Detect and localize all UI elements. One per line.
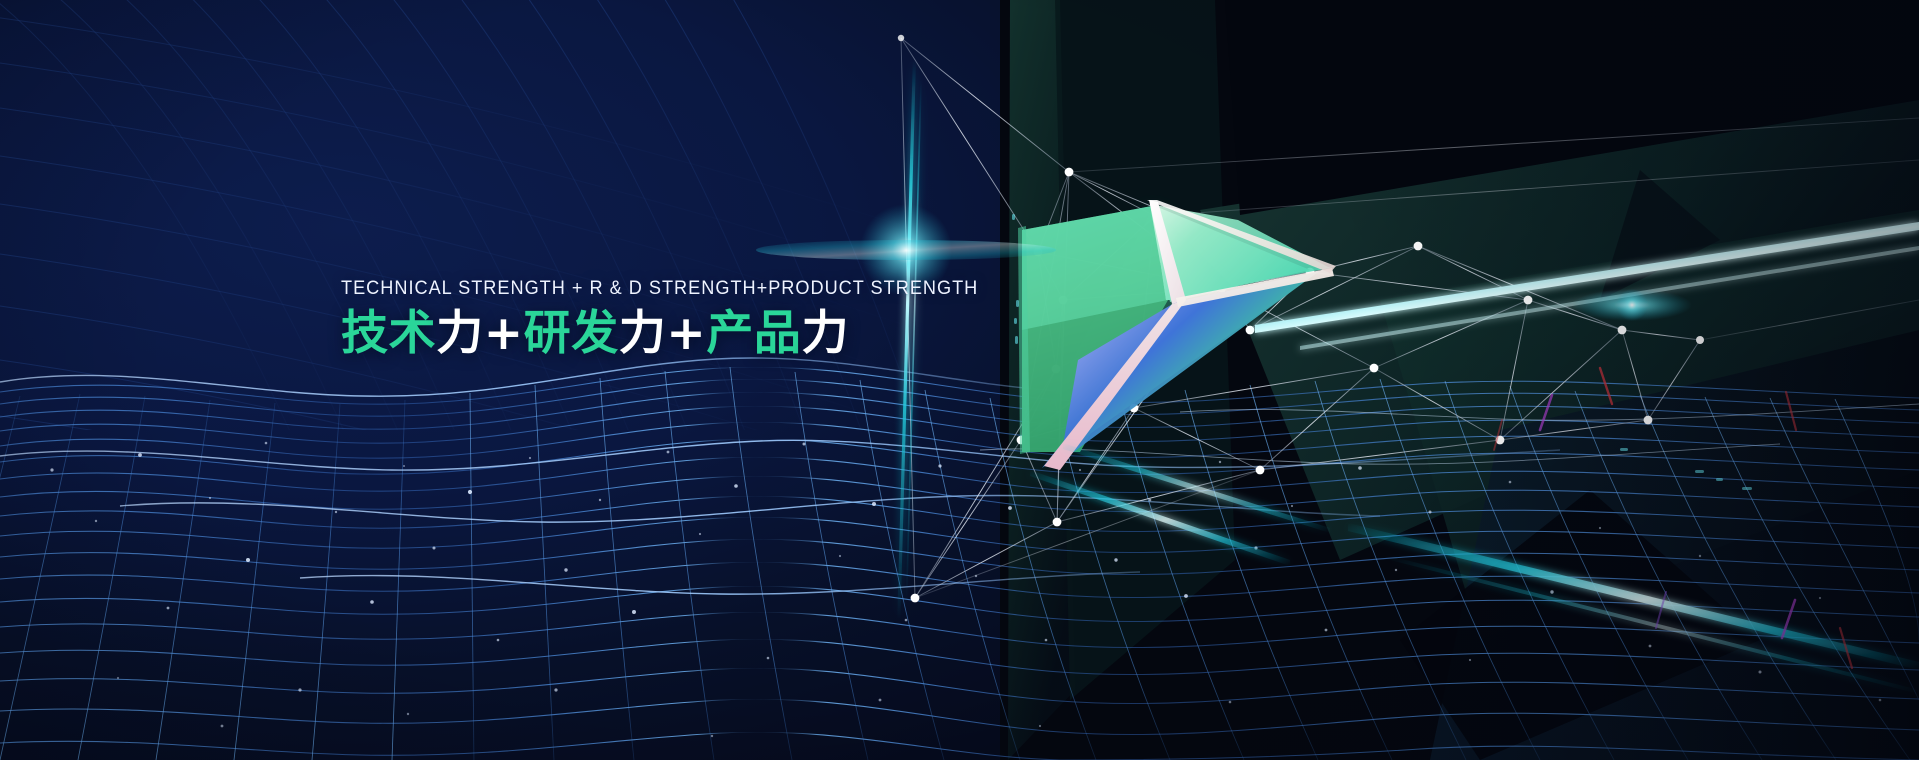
headline-seg-3: 力+: [619, 306, 707, 361]
eyebrow-text: TECHNICAL STRENGTH + R & D STRENGTH+PROD…: [341, 277, 992, 300]
polygon-network: [0, 0, 1919, 760]
triangular-play-prism: [0, 0, 1919, 760]
headline-block: TECHNICAL STRENGTH + R & D STRENGTH+PROD…: [341, 277, 1041, 360]
light-streaks: [0, 0, 1919, 760]
wave-mesh: [0, 0, 1919, 760]
dark-panels: [0, 0, 1919, 760]
hero-banner: TECHNICAL STRENGTH + R & D STRENGTH+PROD…: [0, 0, 1919, 760]
headline-seg-5: 力: [801, 306, 849, 361]
vignette: [0, 0, 1919, 760]
page-title: 技术力+研发力+产品力: [341, 309, 1041, 360]
headline-seg-1: 力+: [436, 306, 524, 361]
headline-seg-0: 技术: [341, 306, 436, 361]
particle-field: [0, 0, 1919, 760]
headline-seg-2: 研发: [524, 306, 619, 361]
headline-seg-4: 产品: [706, 306, 801, 361]
background-grid: [0, 0, 1919, 760]
